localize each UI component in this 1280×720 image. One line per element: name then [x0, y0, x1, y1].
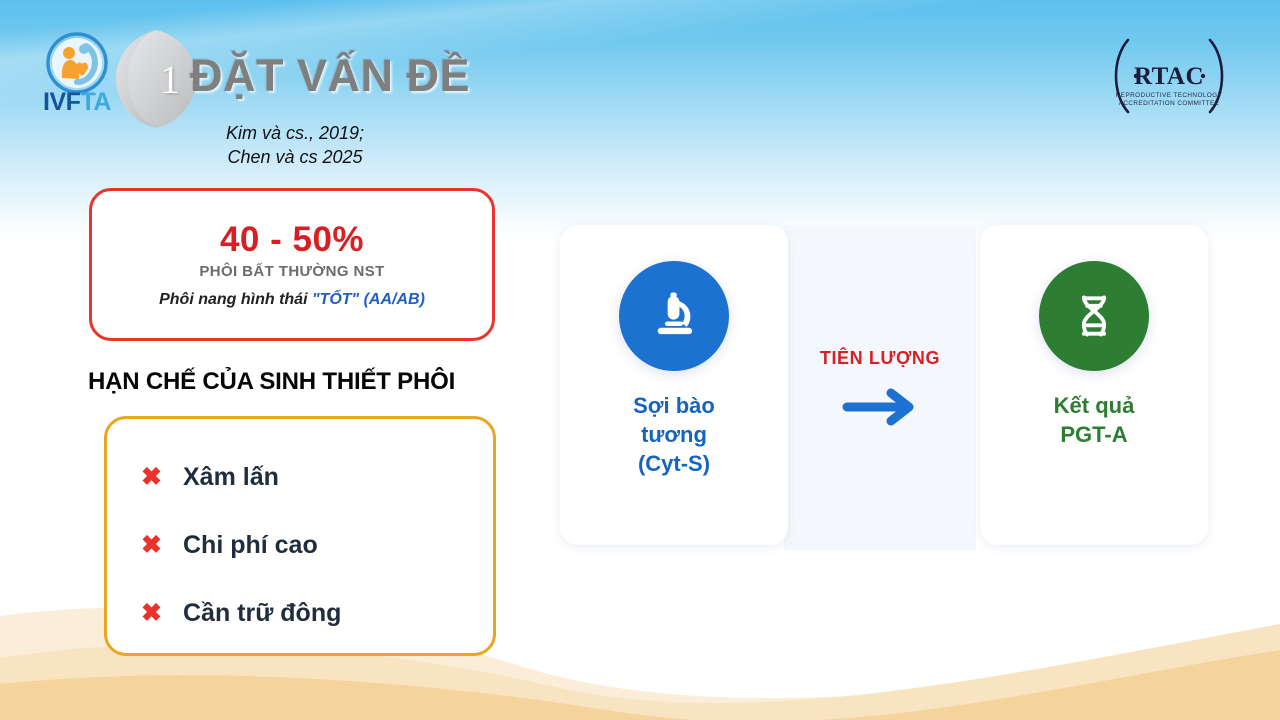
page-title: ĐẶT VẤN ĐỀ — [190, 50, 470, 102]
statistic-percent: 40 - 50% — [220, 220, 364, 260]
statistic-callout-box: 40 - 50% PHÔI BẤT THƯỜNG NST Phôi nang h… — [89, 188, 495, 341]
flow-card-label-line-1: Sợi bào — [633, 391, 715, 420]
statistic-note-prefix: Phôi nang hình thái — [159, 291, 312, 308]
rtac-subtitle-line-2: ACCREDITATION COMMITTEE — [1119, 100, 1220, 107]
flow-card-label: Kết quả PGT-A — [1044, 391, 1145, 449]
slide-canvas: IVFTA 1 ĐẶT VẤN ĐỀ Kim và cs., 2019; Che… — [0, 0, 1280, 720]
cross-mark-icon: ✖ — [141, 465, 183, 490]
citation-line-1: Kim và cs., 2019; — [175, 121, 415, 145]
dna-icon — [1039, 261, 1149, 371]
statistic-note-highlight: "TỐT" (AA/AB) — [312, 291, 425, 308]
flow-card-pgta-result: Kết quả PGT-A — [980, 225, 1208, 545]
statistic-subtitle: PHÔI BẤT THƯỜNG NST — [199, 263, 384, 280]
flow-card-label-line-3: (Cyt-S) — [633, 449, 715, 478]
cross-mark-icon: ✖ — [141, 533, 183, 558]
ivfta-wordmark-ivf: IVF — [43, 88, 80, 116]
flow-connector: TIÊN LƯỢNG — [784, 225, 976, 550]
list-item-label: Chi phí cao — [183, 531, 318, 560]
flow-card-label-line-1: Kết quả — [1054, 391, 1135, 420]
rtac-logo: RTAC REPRODUCTIVE TECHNOLOGY ACCREDITATI… — [1102, 36, 1236, 116]
flow-card-label: Sợi bào tương (Cyt-S) — [623, 391, 725, 478]
cross-mark-icon: ✖ — [141, 601, 183, 626]
flow-diagram: Sợi bào tương (Cyt-S) TIÊN LƯỢNG — [560, 225, 1220, 550]
arrow-right-icon — [841, 387, 919, 427]
citation-reference: Kim và cs., 2019; Chen và cs 2025 — [175, 121, 415, 170]
flow-card-cytoplasmic-strings: Sợi bào tương (Cyt-S) — [560, 225, 788, 545]
list-item: ✖ Xâm lấn — [141, 443, 493, 511]
list-item: ✖ Chi phí cao — [141, 511, 493, 579]
rtac-subtitle-line-1: REPRODUCTIVE TECHNOLOGY — [1116, 92, 1223, 99]
flow-card-label-line-2: PGT-A — [1054, 420, 1135, 449]
rtac-acronym: RTAC — [1134, 63, 1204, 90]
list-item: ✖ Cần trữ đông — [141, 579, 493, 647]
flow-card-label-line-2: tương — [633, 420, 715, 449]
limitations-heading: HẠN CHẾ CỦA SINH THIẾT PHÔI — [88, 368, 455, 396]
citation-line-2: Chen và cs 2025 — [175, 145, 415, 169]
ivfta-emblem-icon — [46, 32, 108, 94]
limitations-box: ✖ Xâm lấn ✖ Chi phí cao ✖ Cần trữ đông — [104, 416, 496, 656]
statistic-note: Phôi nang hình thái "TỐT" (AA/AB) — [159, 291, 425, 309]
list-item-label: Xâm lấn — [183, 463, 279, 492]
list-item-label: Cần trữ đông — [183, 599, 341, 628]
microscope-icon — [619, 261, 729, 371]
flow-connector-label: TIÊN LƯỢNG — [820, 348, 940, 369]
